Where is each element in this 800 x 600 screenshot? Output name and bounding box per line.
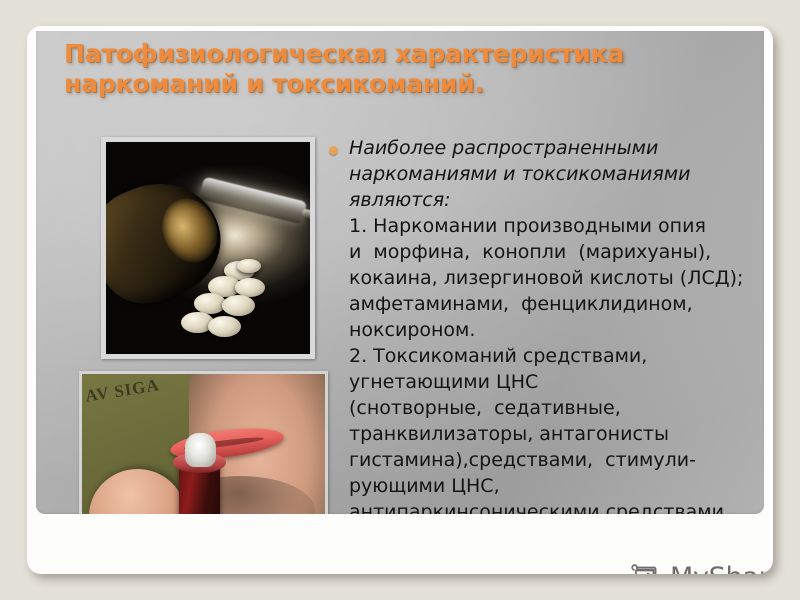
slide-title: Патофизиологическая характеристика нарко… bbox=[64, 39, 734, 99]
pill-shape bbox=[235, 278, 266, 297]
body-text-lines: Наиболее распространенныминаркоманиями и… bbox=[349, 135, 764, 514]
slide-frame: Патофизиологическая характеристика нарко… bbox=[27, 26, 773, 574]
body-line: угнетающими ЦНС bbox=[349, 369, 764, 395]
shirt-text: AV SIGA bbox=[84, 376, 161, 407]
slide-content-panel: Патофизиологическая характеристика нарко… bbox=[36, 31, 764, 514]
body-line: антипаркинсоническими средствами bbox=[349, 499, 764, 514]
canister-plug bbox=[185, 433, 216, 467]
bullet-point-icon bbox=[329, 146, 338, 155]
inhalant-user-photo: AV SIGA bbox=[79, 371, 328, 514]
body-line: 2. Токсикоманий средствами, bbox=[349, 343, 764, 369]
body-line: 1. Наркомании производными опия bbox=[349, 213, 764, 239]
pill-shape bbox=[222, 295, 255, 316]
body-line: наркоманиями и токсикоманиями bbox=[349, 161, 764, 187]
photo-scene bbox=[106, 142, 310, 354]
myshared-logo[interactable]: MyShared bbox=[631, 562, 773, 574]
body-line: являются: bbox=[349, 187, 764, 213]
body-line: Наиболее распространенными bbox=[349, 135, 764, 161]
myshared-wordmark: MyShared bbox=[670, 562, 773, 574]
pill-shape bbox=[237, 259, 261, 274]
body-line: гистамина),средствами, стимули- bbox=[349, 447, 764, 473]
easel-bar-chart-icon bbox=[631, 563, 661, 575]
pills-and-syringe-photo bbox=[101, 137, 315, 359]
body-line: кокаина, лизергиновой кислоты (ЛСД); bbox=[349, 265, 764, 291]
photo-scene: AV SIGA bbox=[82, 374, 325, 514]
red-canister-shape bbox=[179, 458, 220, 514]
body-line: транквилизаторы, антагонисты bbox=[349, 421, 764, 447]
pill-shape bbox=[208, 316, 241, 337]
body-line: ноксироном. bbox=[349, 317, 764, 343]
body-line: и морфина, конопли (марихуаны), bbox=[349, 239, 764, 265]
body-line: (снотворные, седативные, bbox=[349, 395, 764, 421]
body-line: амфетаминами, фенциклидином, bbox=[349, 291, 764, 317]
body-line: рующими ЦНС, bbox=[349, 473, 764, 499]
